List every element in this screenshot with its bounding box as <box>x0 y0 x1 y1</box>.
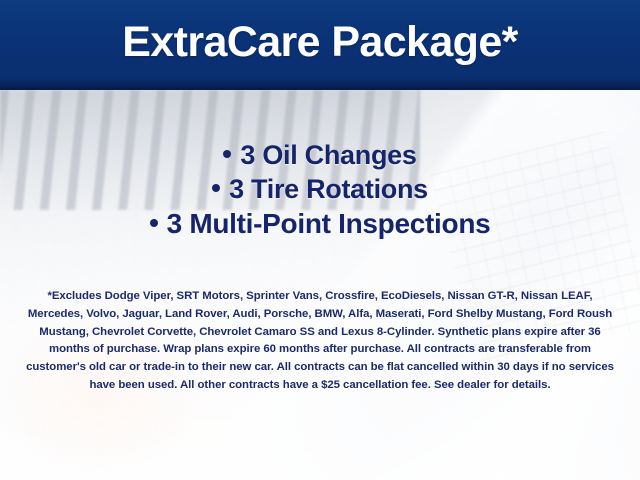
benefit-label: 3 Tire Rotations <box>229 174 428 204</box>
benefits-list: 3 Oil Changes 3 Tire Rotations 3 Multi-P… <box>0 138 640 241</box>
page-title: ExtraCare Package* <box>122 21 518 68</box>
disclaimer-fine-print: *Excludes Dodge Viper, SRT Motors, Sprin… <box>26 288 614 395</box>
list-item: 3 Oil Changes <box>0 138 640 172</box>
bullet-dot-icon <box>212 184 220 192</box>
header-banner: ExtraCare Package* <box>0 0 640 90</box>
extracare-package-promo-card: ExtraCare Package* 3 Oil Changes 3 Tire … <box>0 0 640 480</box>
benefit-label: 3 Oil Changes <box>240 140 416 170</box>
benefit-label: 3 Multi-Point Inspections <box>167 208 491 239</box>
list-item: 3 Multi-Point Inspections <box>0 206 640 241</box>
list-item: 3 Tire Rotations <box>0 172 640 206</box>
bullet-dot-icon <box>223 150 231 158</box>
bullet-dot-icon <box>150 219 158 227</box>
